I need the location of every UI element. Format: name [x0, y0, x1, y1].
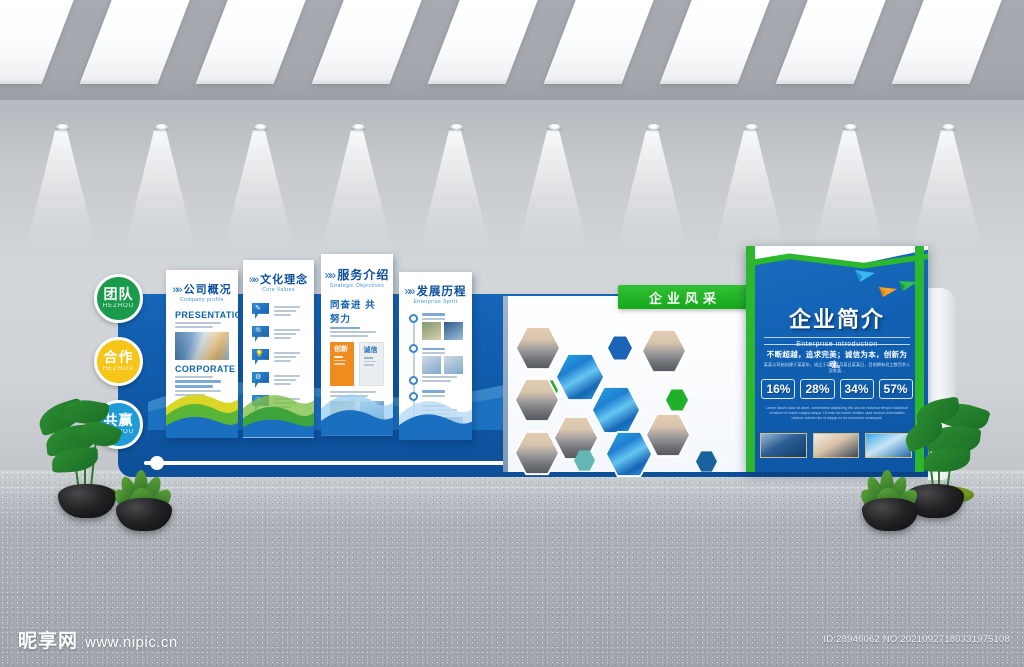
timeline-node — [409, 344, 418, 353]
ceiling — [0, 0, 1024, 104]
panel-service-intro[interactable]: »» 服务介绍 Strategic Objectives 同奋进 共努力 创新 — [321, 254, 393, 436]
spotlight-fixture — [548, 124, 561, 130]
panel-wave — [399, 383, 472, 440]
panel-title-en: Core Values — [243, 287, 314, 293]
pen-icon: ✎ — [252, 303, 269, 319]
spotlight-beam — [812, 130, 886, 256]
spotlight-beam — [320, 130, 394, 256]
watermark-site-url: www.nipic.cn — [85, 634, 178, 651]
banner-corporate-style: 企业风采 — [618, 285, 752, 309]
enterprise-title-cn: 企业简介 — [746, 302, 928, 334]
spotlight-beam — [222, 130, 296, 256]
panel-core-values[interactable]: »» 文化理念 Core Values ✎ 🔍 💡 — [243, 260, 314, 438]
culture-wall-display: »» 公司概况 Company profile PRESENTATION COR… — [118, 252, 930, 477]
watermark-id: ID:28946062 NO:20210927180331975108 — [823, 634, 1010, 645]
enterprise-subtext: 某某公司始创建于某某年，成立于某年某月某日某某日，目前拥有员工数百余人及各类… — [762, 362, 912, 374]
timeline-item — [422, 313, 463, 340]
stat-badge: 34% — [840, 379, 874, 399]
badge-team[interactable]: 团队 HEZHOU — [94, 274, 143, 323]
panel-company-profile[interactable]: »» 公司概况 Company profile PRESENTATION COR… — [166, 270, 238, 438]
badge-label-en: HEZHOU — [103, 365, 134, 373]
scene-root: »» 公司概况 Company profile PRESENTATION COR… — [0, 0, 1024, 667]
badge-label-cn: 团队 — [104, 287, 134, 302]
spotlight-fixture — [254, 124, 267, 130]
spotlight-fixture — [352, 124, 365, 130]
chevron-icon: »» — [325, 268, 334, 282]
list-item: 💡 — [252, 349, 305, 365]
search-icon: 🔍 — [252, 326, 269, 342]
spotlight-beam — [615, 130, 689, 256]
spotlight-beam — [24, 130, 98, 256]
panel-title-cn: 服务介绍 — [337, 268, 389, 282]
chevron-icon: »» — [172, 284, 180, 296]
heading-corporate: CORPORATE — [175, 364, 229, 374]
panel-wave — [243, 377, 314, 438]
panel-title-en: Company profile — [166, 297, 238, 303]
spotlight-beam — [910, 130, 984, 256]
stat-badge: 57% — [879, 379, 913, 399]
spotlight-fixture — [844, 124, 857, 130]
panel-title-en: Enterprise Spirit — [399, 299, 472, 305]
panel-title-en: Strategic Objectives — [321, 283, 393, 289]
spotlight-fixture — [450, 124, 463, 130]
list-item: ✎ — [252, 303, 305, 319]
panel-wave — [321, 374, 393, 436]
badge-label-en: HEZHOU — [103, 302, 134, 310]
heading-presentation: PRESENTATION — [175, 310, 229, 320]
spotlight-beam — [516, 130, 590, 256]
banner-label: 企业风采 — [649, 288, 721, 307]
chevron-icon: »» — [249, 274, 257, 286]
service-subtitle-cn: 同奋进 共努力 — [330, 297, 384, 325]
paper-plane-icon — [878, 284, 898, 299]
spotlight-fixture — [942, 124, 955, 130]
spotlight-fixture — [647, 124, 660, 130]
panel-wave — [166, 381, 238, 438]
spotlight-fixture — [745, 124, 758, 130]
card-title-cn: 创新 — [334, 346, 350, 354]
panel-title-cn: 发展历程 — [417, 286, 467, 298]
stats-row: 16% 28% 34% 57% — [756, 379, 918, 399]
watermark-site-cn: 昵享网 — [18, 626, 78, 653]
paper-plane-icon — [898, 278, 918, 293]
spotlight-fixture — [155, 124, 168, 130]
watermark-left: 昵享网 www.nipic.cn — [18, 626, 178, 653]
panel-photo — [175, 332, 229, 360]
spotlight-beam — [123, 130, 197, 256]
chevron-icon: »» — [405, 286, 414, 298]
panel-development-history[interactable]: »» 发展历程 Enterprise Spirit — [399, 272, 472, 440]
stat-badge: 28% — [800, 379, 834, 399]
badge-cooperation[interactable]: 合作 HEZHOU — [94, 337, 143, 386]
timeline-node — [409, 314, 418, 323]
panel-green-stripe-left — [746, 246, 755, 472]
badge-label-cn: 合作 — [104, 350, 134, 365]
spotlight-fixture — [56, 124, 69, 130]
handshake-photo — [813, 433, 860, 458]
office-tower-photo — [760, 433, 807, 458]
list-item: 🔍 — [252, 326, 305, 342]
card-title-cn: 诚信 — [364, 347, 380, 355]
spotlight-beam — [418, 130, 492, 256]
enterprise-footnote: Lorem ipsum dolor sit amet, consectetur … — [764, 406, 910, 421]
enterprise-title-block: 企业简介 Enterprise introduction — [746, 302, 928, 348]
panel-title-cn: 文化理念 — [260, 274, 308, 286]
paper-plane-icon — [854, 268, 876, 284]
bulb-icon: 💡 — [252, 349, 269, 365]
stat-badge: 16% — [761, 379, 795, 399]
timeline-item — [422, 348, 463, 383]
base-accent-dot — [150, 456, 164, 470]
panel-title-cn: 公司概况 — [184, 284, 232, 296]
spotlight-beam — [713, 130, 787, 256]
